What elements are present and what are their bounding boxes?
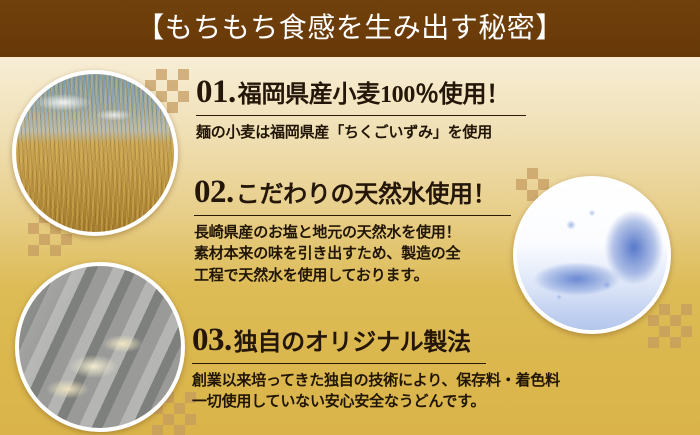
page-title: 【もちもち食感を生み出す秘密】 (0, 0, 700, 57)
feature-heading-03: 03. 独自のオリジナル製法 (192, 324, 560, 357)
feature-number-01: 01. (196, 76, 236, 109)
feature-heading-02: 02. こだわりの天然水使用！ (194, 176, 511, 209)
feature-title-01: 福岡県産小麦100％使用！ (238, 83, 510, 107)
feature-body-01-line-1: 麺の小麦は福岡県産「ちくごいずみ」を使用 (196, 123, 526, 144)
checker-pattern-right-lower (648, 304, 692, 348)
feature-body-03-line-1: 創業以来培ってきた独自の技術により、保存料・着色料 (192, 371, 560, 392)
feature-number-03: 03. (192, 324, 232, 357)
feature-body-02-line-3: 工程で天然水を使用しております。 (194, 266, 511, 287)
feature-section-03: 03. 独自のオリジナル製法 創業以来培ってきた独自の技術により、保存料・着色料… (192, 324, 560, 414)
feature-heading-01: 01. 福岡県産小麦100％使用！ (196, 76, 526, 109)
wheat-field-photo (12, 70, 178, 236)
feature-section-01: 01. 福岡県産小麦100％使用！ 麺の小麦は福岡県産「ちくごいずみ」を使用 (196, 76, 526, 144)
feature-body-02-line-1: 長崎県産のお塩と地元の天然水を使用！ (194, 223, 511, 244)
feature-title-02: こだわりの天然水使用！ (236, 183, 497, 207)
divider-02 (194, 215, 511, 216)
feature-body-03: 創業以来培ってきた独自の技術により、保存料・着色料 一切使用していない安心安全な… (192, 371, 560, 414)
feature-title-03: 独自のオリジナル製法 (234, 331, 471, 355)
feature-number-02: 02. (194, 176, 234, 209)
feature-section-02: 02. こだわりの天然水使用！ 長崎県産のお塩と地元の天然水を使用！ 素材本来の… (194, 176, 511, 287)
infographic-poster: 【もちもち食感を生み出す秘密】 01. 福岡県産小麦100％使用！ 麺の小麦は福… (0, 0, 700, 435)
feature-body-02: 長崎県産のお塩と地元の天然水を使用！ 素材本来の味を引き出すため、製造の全 工程… (194, 223, 511, 287)
feature-body-01: 麺の小麦は福岡県産「ちくごいずみ」を使用 (196, 123, 526, 144)
water-splash-photo (513, 176, 671, 334)
factory-machine-photo (15, 262, 185, 432)
divider-03 (192, 363, 486, 364)
feature-body-02-line-2: 素材本来の味を引き出すため、製造の全 (194, 244, 511, 265)
divider-01 (196, 115, 526, 116)
feature-body-03-line-2: 一切使用していない安心安全なうどんです。 (192, 392, 560, 413)
